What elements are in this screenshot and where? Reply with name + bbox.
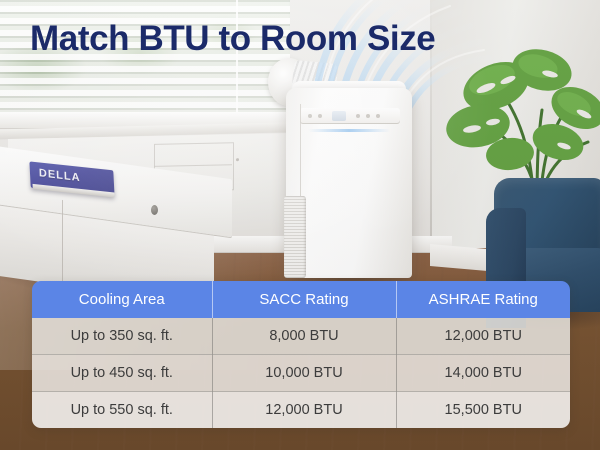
cabinet-knob bbox=[151, 205, 158, 215]
ac-led-strip bbox=[308, 129, 390, 132]
cell-ashrae-rating: 14,000 BTU bbox=[396, 355, 570, 392]
ac-display bbox=[332, 111, 346, 121]
btu-rating-table: Cooling Area SACC Rating ASHRAE Rating U… bbox=[32, 281, 570, 428]
cell-sacc-rating: 10,000 BTU bbox=[212, 355, 396, 392]
table-header: Cooling Area SACC Rating ASHRAE Rating bbox=[32, 281, 570, 318]
console-cabinet-seam bbox=[62, 200, 63, 292]
table-body: Up to 350 sq. ft. 8,000 BTU 12,000 BTU U… bbox=[32, 318, 570, 428]
portable-air-conditioner bbox=[286, 88, 412, 278]
cell-sacc-rating: 12,000 BTU bbox=[212, 392, 396, 429]
column-header-sacc-rating: SACC Rating bbox=[212, 281, 396, 318]
wall-panel-screw-2 bbox=[236, 158, 239, 161]
cell-cooling-area: Up to 450 sq. ft. bbox=[32, 355, 212, 392]
cell-ashrae-rating: 12,000 BTU bbox=[396, 318, 570, 355]
ac-timer-button-icon[interactable] bbox=[366, 114, 370, 118]
cell-cooling-area: Up to 350 sq. ft. bbox=[32, 318, 212, 355]
btu-table-element: Cooling Area SACC Rating ASHRAE Rating U… bbox=[32, 281, 570, 428]
ac-vent-grille bbox=[284, 196, 306, 278]
table-row: Up to 350 sq. ft. 8,000 BTU 12,000 BTU bbox=[32, 318, 570, 355]
cell-cooling-area: Up to 550 sq. ft. bbox=[32, 392, 212, 429]
page-title: Match BTU to Room Size bbox=[30, 17, 435, 61]
cell-ashrae-rating: 15,500 BTU bbox=[396, 392, 570, 429]
ac-power-button-icon[interactable] bbox=[308, 114, 312, 118]
column-header-ashrae-rating: ASHRAE Rating bbox=[396, 281, 570, 318]
ac-mode-button-icon[interactable] bbox=[318, 114, 322, 118]
table-row: Up to 450 sq. ft. 10,000 BTU 14,000 BTU bbox=[32, 355, 570, 392]
table-header-row: Cooling Area SACC Rating ASHRAE Rating bbox=[32, 281, 570, 318]
cell-sacc-rating: 8,000 BTU bbox=[212, 318, 396, 355]
ac-swing-button-icon[interactable] bbox=[376, 114, 380, 118]
ac-fan-button-icon[interactable] bbox=[356, 114, 360, 118]
btu-room-size-infographic: DELLA bbox=[0, 0, 600, 450]
ac-control-panel[interactable] bbox=[300, 108, 400, 124]
table-row: Up to 550 sq. ft. 12,000 BTU 15,500 BTU bbox=[32, 392, 570, 429]
column-header-cooling-area: Cooling Area bbox=[32, 281, 212, 318]
